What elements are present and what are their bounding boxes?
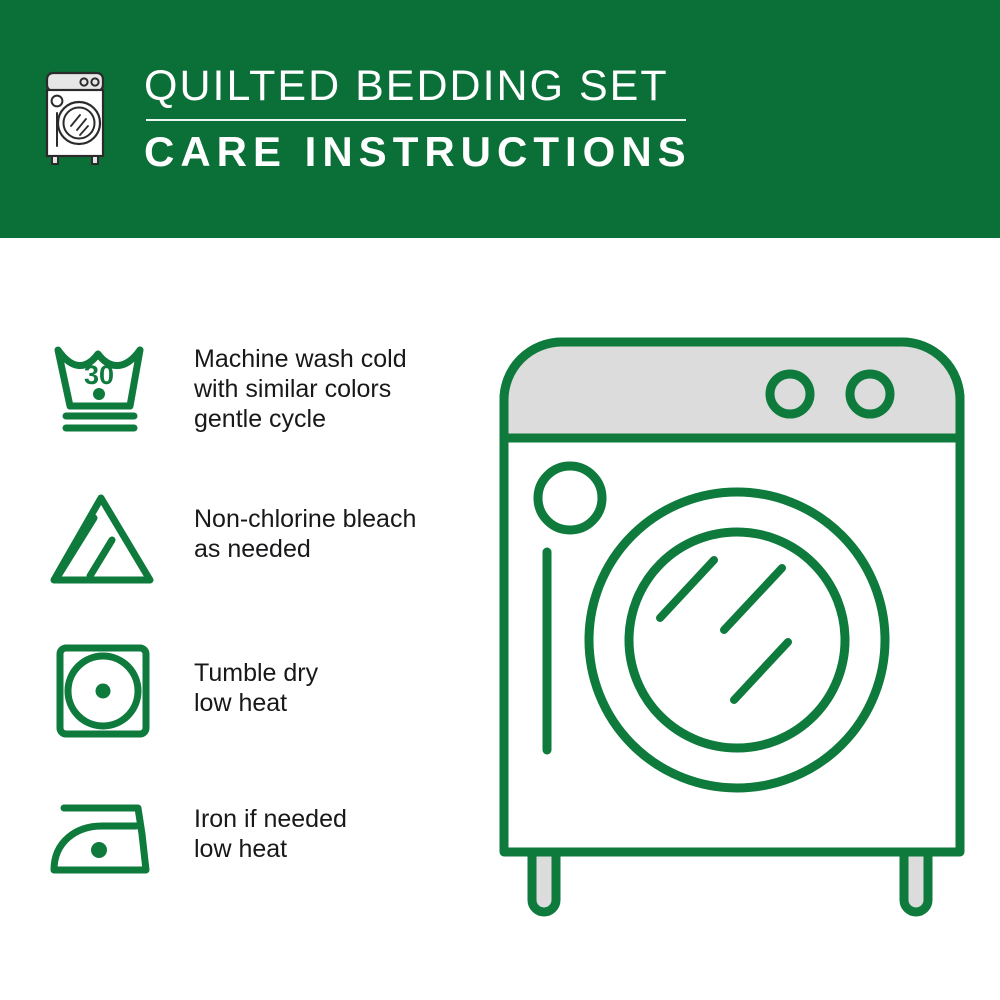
- care-text-line: low heat: [194, 688, 318, 718]
- page-subtitle: CARE INSTRUCTIONS: [144, 129, 692, 175]
- header-content: QUILTED BEDDING SET CARE INSTRUCTIONS: [44, 62, 692, 175]
- care-text-line: as needed: [194, 534, 416, 564]
- care-item-bleach: Non-chlorine bleach as needed: [46, 484, 506, 594]
- care-text-line: Iron if needed: [194, 804, 347, 834]
- care-text-line: Tumble dry: [194, 658, 318, 688]
- care-item-tumble-dry-text: Tumble dry low heat: [194, 636, 318, 718]
- care-item-wash: 30 Machine wash cold with similar colors…: [46, 336, 506, 446]
- iron-icon: [46, 786, 166, 896]
- wash-temperature-label: 30: [84, 360, 114, 390]
- machine-leg-right: [904, 850, 928, 912]
- care-item-iron: Iron if needed low heat: [46, 786, 506, 896]
- header-band: QUILTED BEDDING SET CARE INSTRUCTIONS: [0, 0, 1000, 238]
- care-item-iron-text: Iron if needed low heat: [194, 786, 347, 864]
- care-text-line: Non-chlorine bleach: [194, 504, 416, 534]
- care-item-tumble-dry: Tumble dry low heat: [46, 636, 506, 746]
- page-title: QUILTED BEDDING SET: [144, 62, 692, 110]
- care-text-line: with similar colors: [194, 374, 407, 404]
- care-item-wash-text: Machine wash cold with similar colors ge…: [194, 336, 407, 434]
- machine-leg-left: [532, 850, 556, 912]
- care-instructions-infographic: QUILTED BEDDING SET CARE INSTRUCTIONS 30: [0, 0, 1000, 1000]
- care-text-line: low heat: [194, 834, 347, 864]
- tumble-dry-icon: [46, 636, 166, 746]
- care-text-line: gentle cycle: [194, 404, 407, 434]
- wash-tub-icon: 30: [46, 336, 166, 446]
- header-titles: QUILTED BEDDING SET CARE INSTRUCTIONS: [144, 62, 692, 175]
- care-item-bleach-text: Non-chlorine bleach as needed: [194, 484, 416, 564]
- washing-machine-illustration: [492, 330, 972, 930]
- washing-machine-logo-icon: [44, 68, 106, 168]
- care-instruction-list: 30 Machine wash cold with similar colors…: [46, 336, 506, 940]
- bleach-triangle-icon: [46, 484, 166, 594]
- care-text-line: Machine wash cold: [194, 344, 407, 374]
- title-divider: [146, 119, 686, 121]
